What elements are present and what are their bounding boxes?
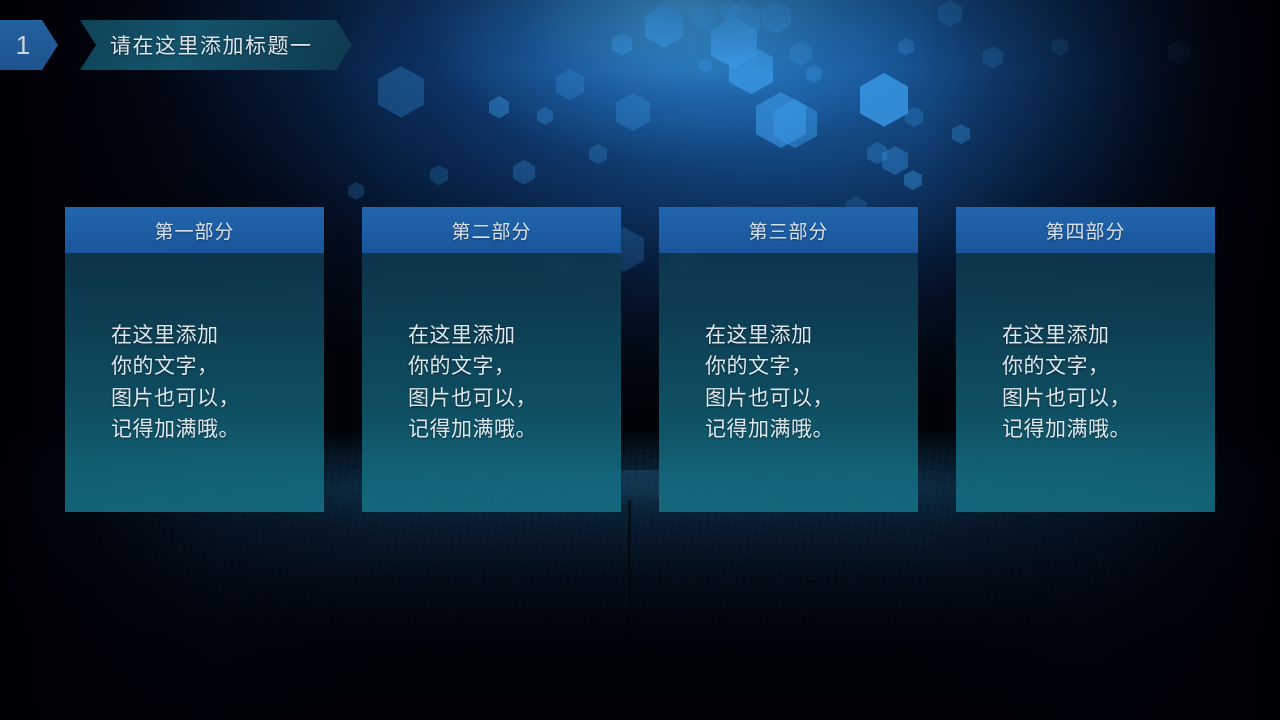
card-body[interactable]: 在这里添加 你的文字， 图片也可以， 记得加满哦。 <box>659 253 918 512</box>
card-heading: 第四部分 <box>1045 217 1125 244</box>
slide-title-plate: 请在这里添加标题一 <box>62 20 352 70</box>
card-header: 第三部分 <box>659 207 918 253</box>
page-title: 请在这里添加标题一 <box>110 30 313 60</box>
card-heading: 第二部分 <box>451 217 531 244</box>
card-body[interactable]: 在这里添加 你的文字， 图片也可以， 记得加满哦。 <box>65 253 324 512</box>
card-heading: 第一部分 <box>154 217 234 244</box>
slide-header: 1 请在这里添加标题一 <box>0 20 352 70</box>
card-header: 第四部分 <box>956 207 1215 253</box>
presentation-slide: 1 请在这里添加标题一 第一部分 在这里添加 你的文字， 图片也可以， 记得加满… <box>0 0 1280 720</box>
card-body-text: 在这里添加 你的文字， 图片也可以， 记得加满哦。 <box>1002 320 1131 444</box>
slide-number-text: 1 <box>16 32 30 58</box>
card-body-text: 在这里添加 你的文字， 图片也可以， 记得加满哦。 <box>705 320 834 444</box>
card-header: 第一部分 <box>65 207 324 253</box>
content-card-row: 第一部分 在这里添加 你的文字， 图片也可以， 记得加满哦。 第二部分 在这里添… <box>65 207 1215 512</box>
content-card[interactable]: 第一部分 在这里添加 你的文字， 图片也可以， 记得加满哦。 <box>65 207 324 512</box>
content-card[interactable]: 第四部分 在这里添加 你的文字， 图片也可以， 记得加满哦。 <box>956 207 1215 512</box>
card-header: 第二部分 <box>362 207 621 253</box>
content-card[interactable]: 第二部分 在这里添加 你的文字， 图片也可以， 记得加满哦。 <box>362 207 621 512</box>
card-body[interactable]: 在这里添加 你的文字， 图片也可以， 记得加满哦。 <box>956 253 1215 512</box>
card-body[interactable]: 在这里添加 你的文字， 图片也可以， 记得加满哦。 <box>362 253 621 512</box>
content-card[interactable]: 第三部分 在这里添加 你的文字， 图片也可以， 记得加满哦。 <box>659 207 918 512</box>
card-heading: 第三部分 <box>748 217 828 244</box>
card-body-text: 在这里添加 你的文字， 图片也可以， 记得加满哦。 <box>111 320 240 444</box>
slide-number-badge: 1 <box>0 20 58 70</box>
card-body-text: 在这里添加 你的文字， 图片也可以， 记得加满哦。 <box>408 320 537 444</box>
